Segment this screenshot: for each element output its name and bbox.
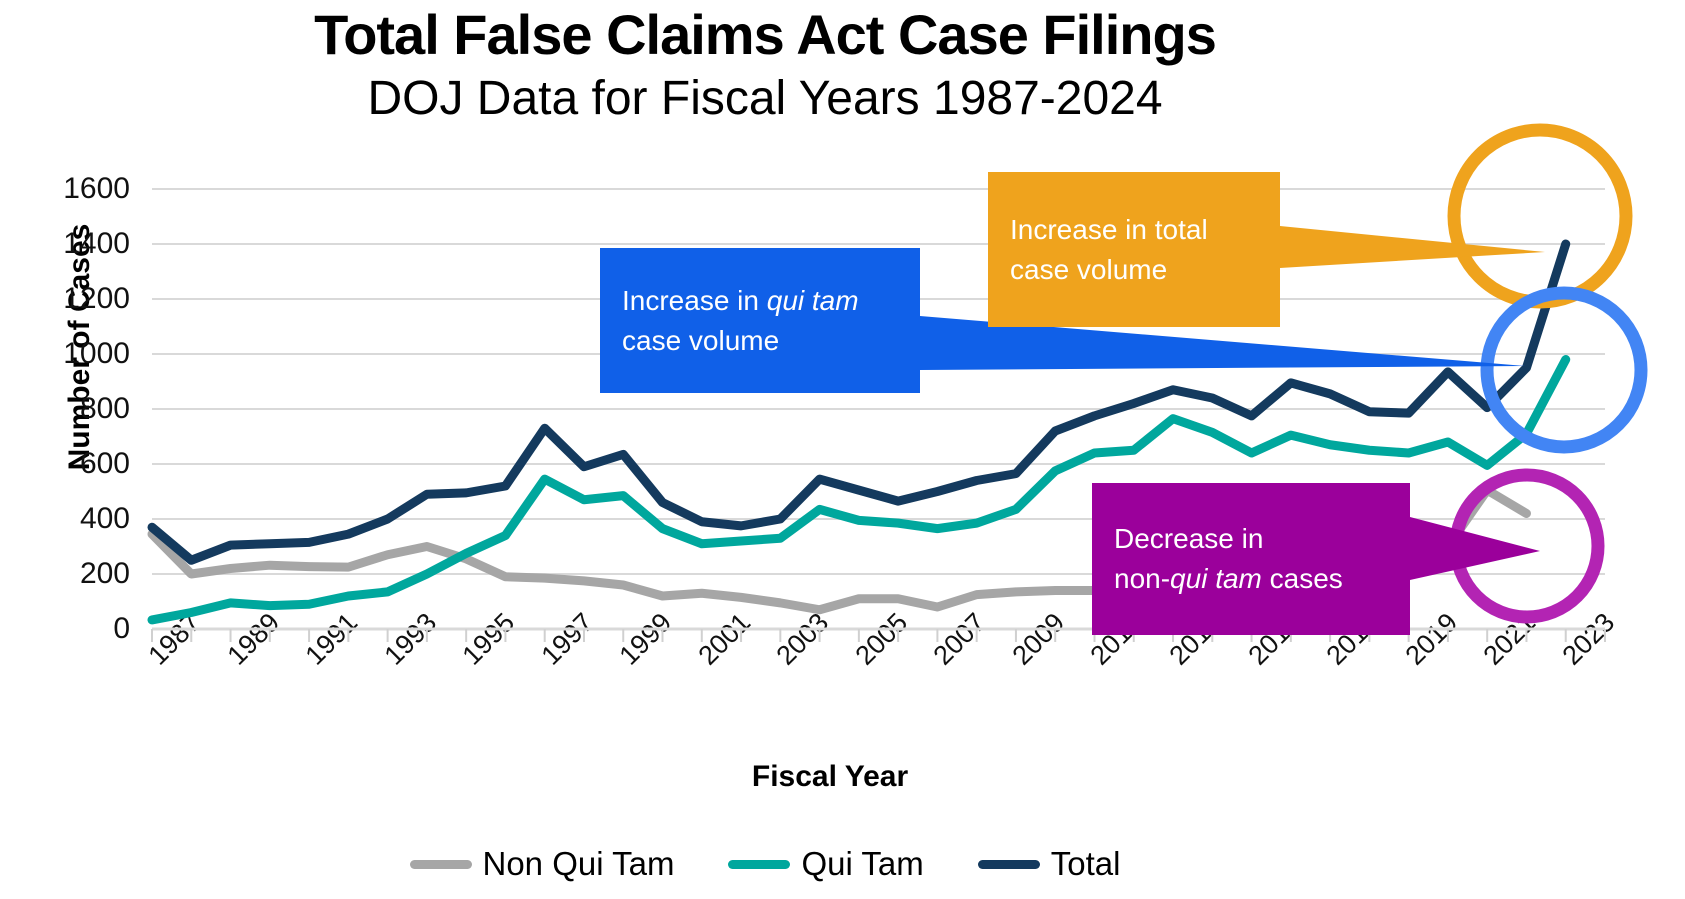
callout-qui-tam-increase[interactable]: Increase in qui tam case volume: [600, 248, 920, 393]
legend-item-total[interactable]: Total: [978, 845, 1121, 883]
callout-line-1: Increase in total: [1010, 210, 1258, 250]
legend-swatch: [978, 860, 1040, 869]
chart-legend: Non Qui TamQui TamTotal: [0, 845, 1530, 883]
legend-label: Non Qui Tam: [483, 845, 675, 883]
chart-canvas: Total False Claims Act Case Filings DOJ …: [0, 0, 1685, 899]
callout-pointer-total: [1280, 226, 1545, 268]
callout-non-qui-tam-decrease-box: Decrease in non-qui tam cases: [1092, 483, 1410, 635]
legend-item-qui-tam[interactable]: Qui Tam: [728, 845, 923, 883]
callout-qui-tam-increase-box: Increase in qui tam case volume: [600, 248, 920, 393]
callout-non-qui-tam-decrease[interactable]: Decrease in non-qui tam cases: [1092, 483, 1410, 635]
callout-line-2: case volume: [1010, 250, 1258, 290]
legend-item-non-qui-tam[interactable]: Non Qui Tam: [410, 845, 675, 883]
callout-pointer-non-qui-tam: [1410, 517, 1540, 580]
callout-total-increase[interactable]: Increase in total case volume: [988, 172, 1280, 327]
callout-line-1: Decrease in: [1114, 519, 1388, 559]
callout-line-1: Increase in qui tam: [622, 281, 898, 321]
callout-line-2: non-qui tam cases: [1114, 559, 1388, 599]
legend-label: Qui Tam: [801, 845, 923, 883]
legend-swatch: [410, 860, 472, 869]
legend-label: Total: [1051, 845, 1121, 883]
highlight-circle-total-circle: [1454, 130, 1626, 302]
legend-swatch: [728, 860, 790, 869]
callout-line-2: case volume: [622, 321, 898, 361]
plot-area: [0, 0, 1685, 899]
callout-total-increase-box: Increase in total case volume: [988, 172, 1280, 327]
